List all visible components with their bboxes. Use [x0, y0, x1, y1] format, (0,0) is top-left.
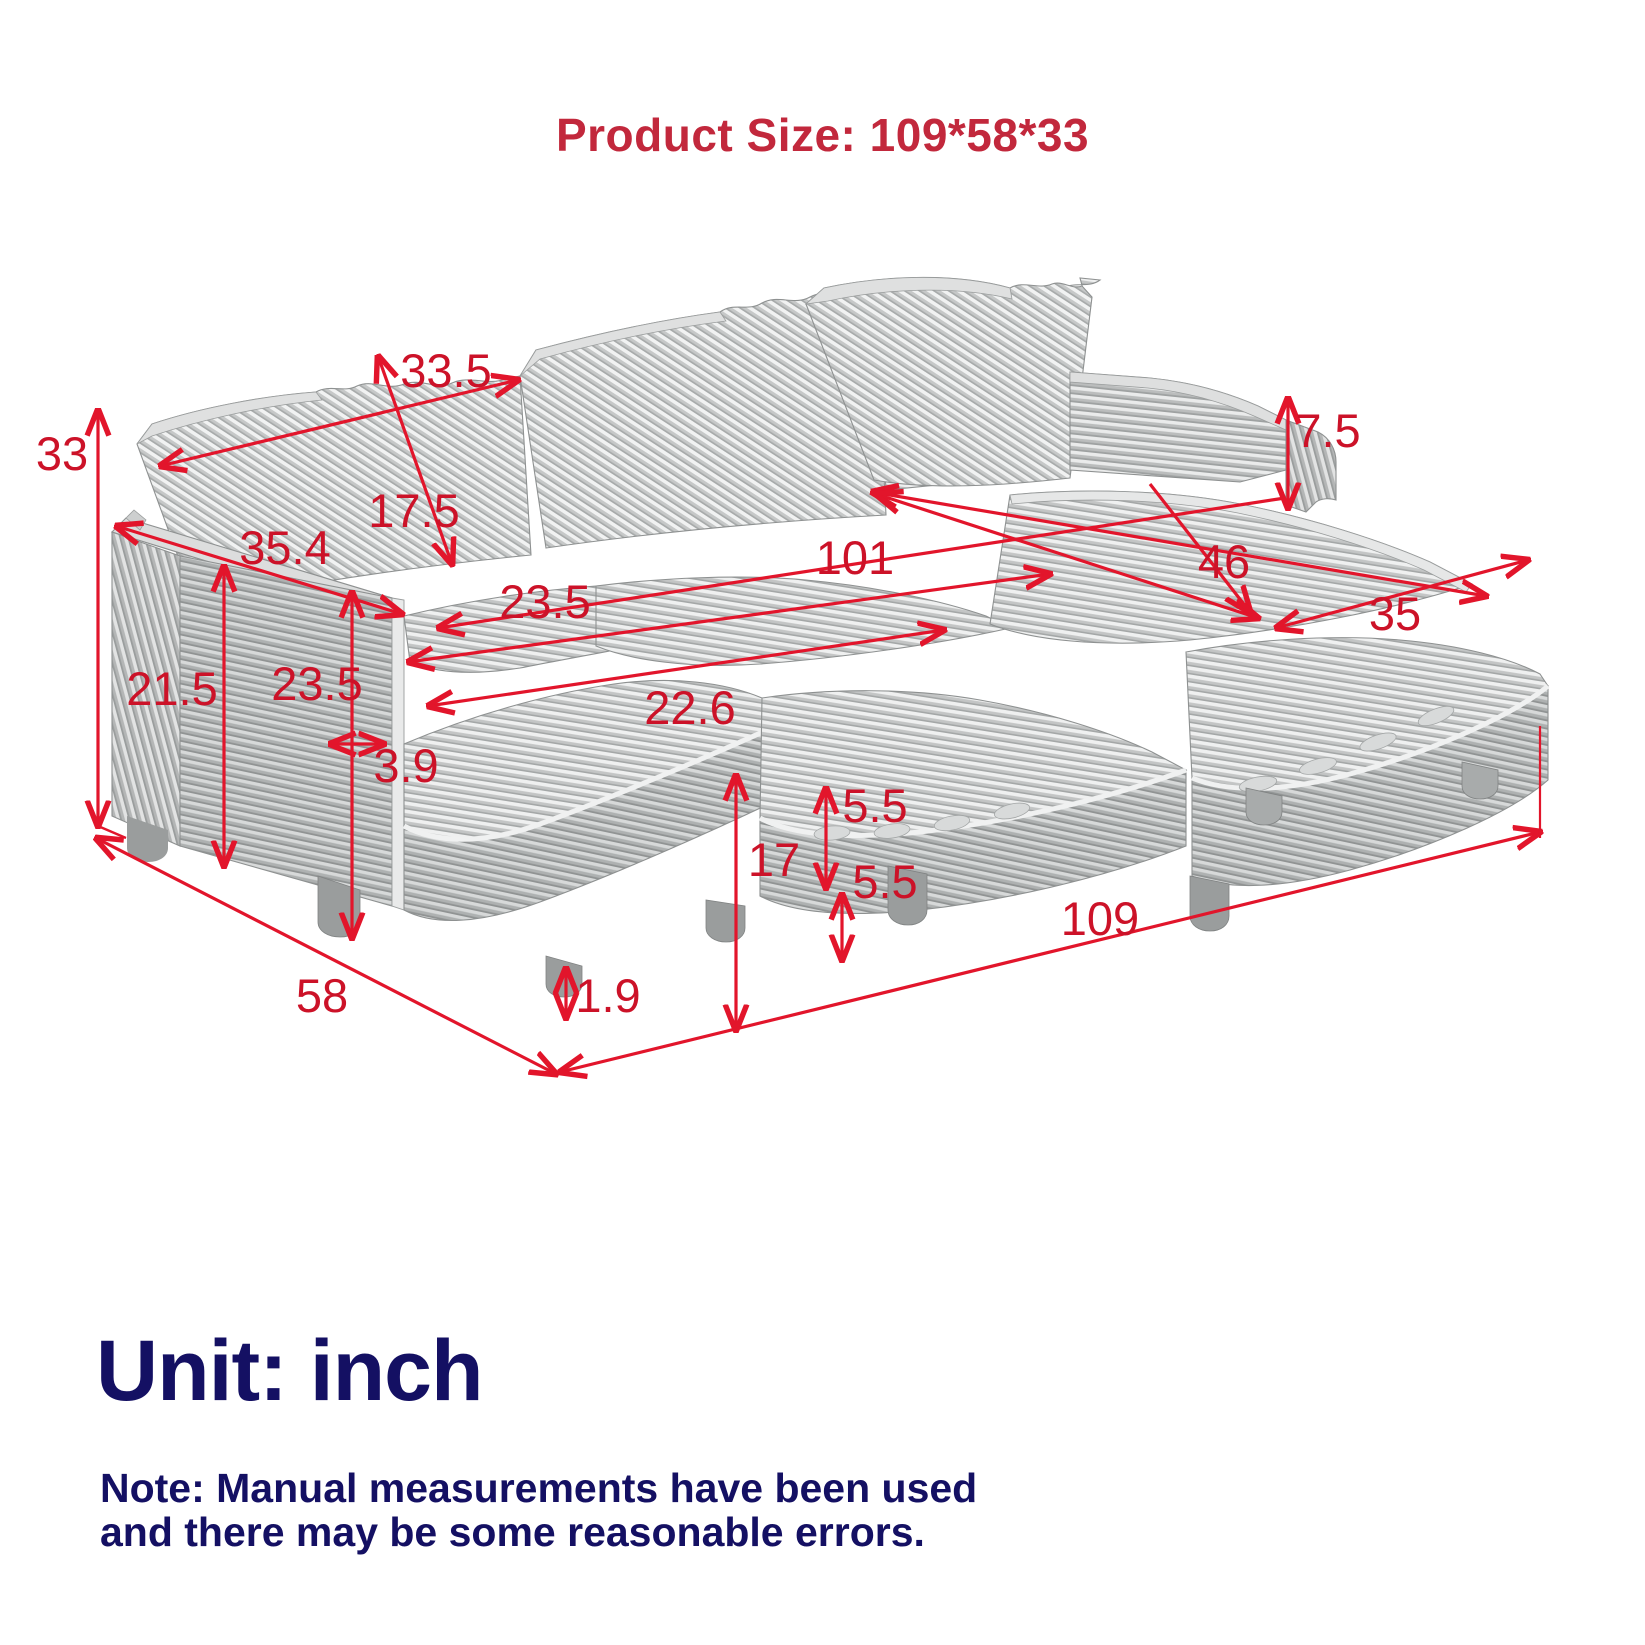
- chaise-cushion: [1186, 638, 1548, 886]
- seat-cushion-front-middle: [760, 691, 1186, 914]
- unit-label: Unit: inch: [96, 1322, 483, 1421]
- dimension-label-overall-width: 109: [1061, 892, 1139, 945]
- sofa-back-rail: [1070, 372, 1286, 482]
- dimension-label-arm-top-depth: 35.4: [239, 521, 330, 574]
- seat-cushion-front-left: [404, 680, 798, 920]
- note-line-1: Note: Manual measurements have been used: [100, 1466, 1500, 1510]
- dimension-label-seat-cushion-depth: 22.6: [644, 681, 735, 734]
- sofa-leg-right-front: [1190, 876, 1229, 931]
- dimension-label-seat-length: 101: [816, 531, 894, 584]
- dimension-label-arm-height: 21.5: [126, 662, 217, 715]
- dimension-label-arm-outer-height: 23.5: [271, 657, 362, 710]
- sofa-illustration: [112, 277, 1548, 997]
- dimension-label-cushion-thickness-top: 5.5: [842, 779, 907, 832]
- dimension-label-arm-cushion-gap: 3.9: [373, 739, 438, 792]
- dimension-label-chaise-width: 35: [1369, 587, 1421, 640]
- dimension-label-overall-height: 33: [36, 427, 88, 480]
- sofa-leg-middle-front: [706, 900, 745, 942]
- note-line-2: and there may be some reasonable errors.: [100, 1510, 1500, 1554]
- product-dimension-diagram: Product Size: 109*58*33: [0, 0, 1645, 1645]
- dimension-label-overall-depth: 58: [296, 969, 348, 1022]
- dimension-label-back-cushion-height: 17.5: [368, 484, 459, 537]
- dimension-label-seat-depth: 23.5: [499, 575, 590, 628]
- dimension-label-chaise-depth: 46: [1198, 535, 1250, 588]
- dimension-label-back-cushion-width: 33.5: [400, 344, 491, 397]
- dimension-label-leg-height: 1.9: [575, 969, 640, 1022]
- dimension-label-cushion-thickness-bot: 5.5: [852, 855, 917, 908]
- dimension-label-back-rest-height: 7.5: [1295, 404, 1360, 457]
- note-block: Note: Manual measurements have been used…: [100, 1466, 1500, 1555]
- dimension-label-seat-height: 17: [748, 833, 800, 886]
